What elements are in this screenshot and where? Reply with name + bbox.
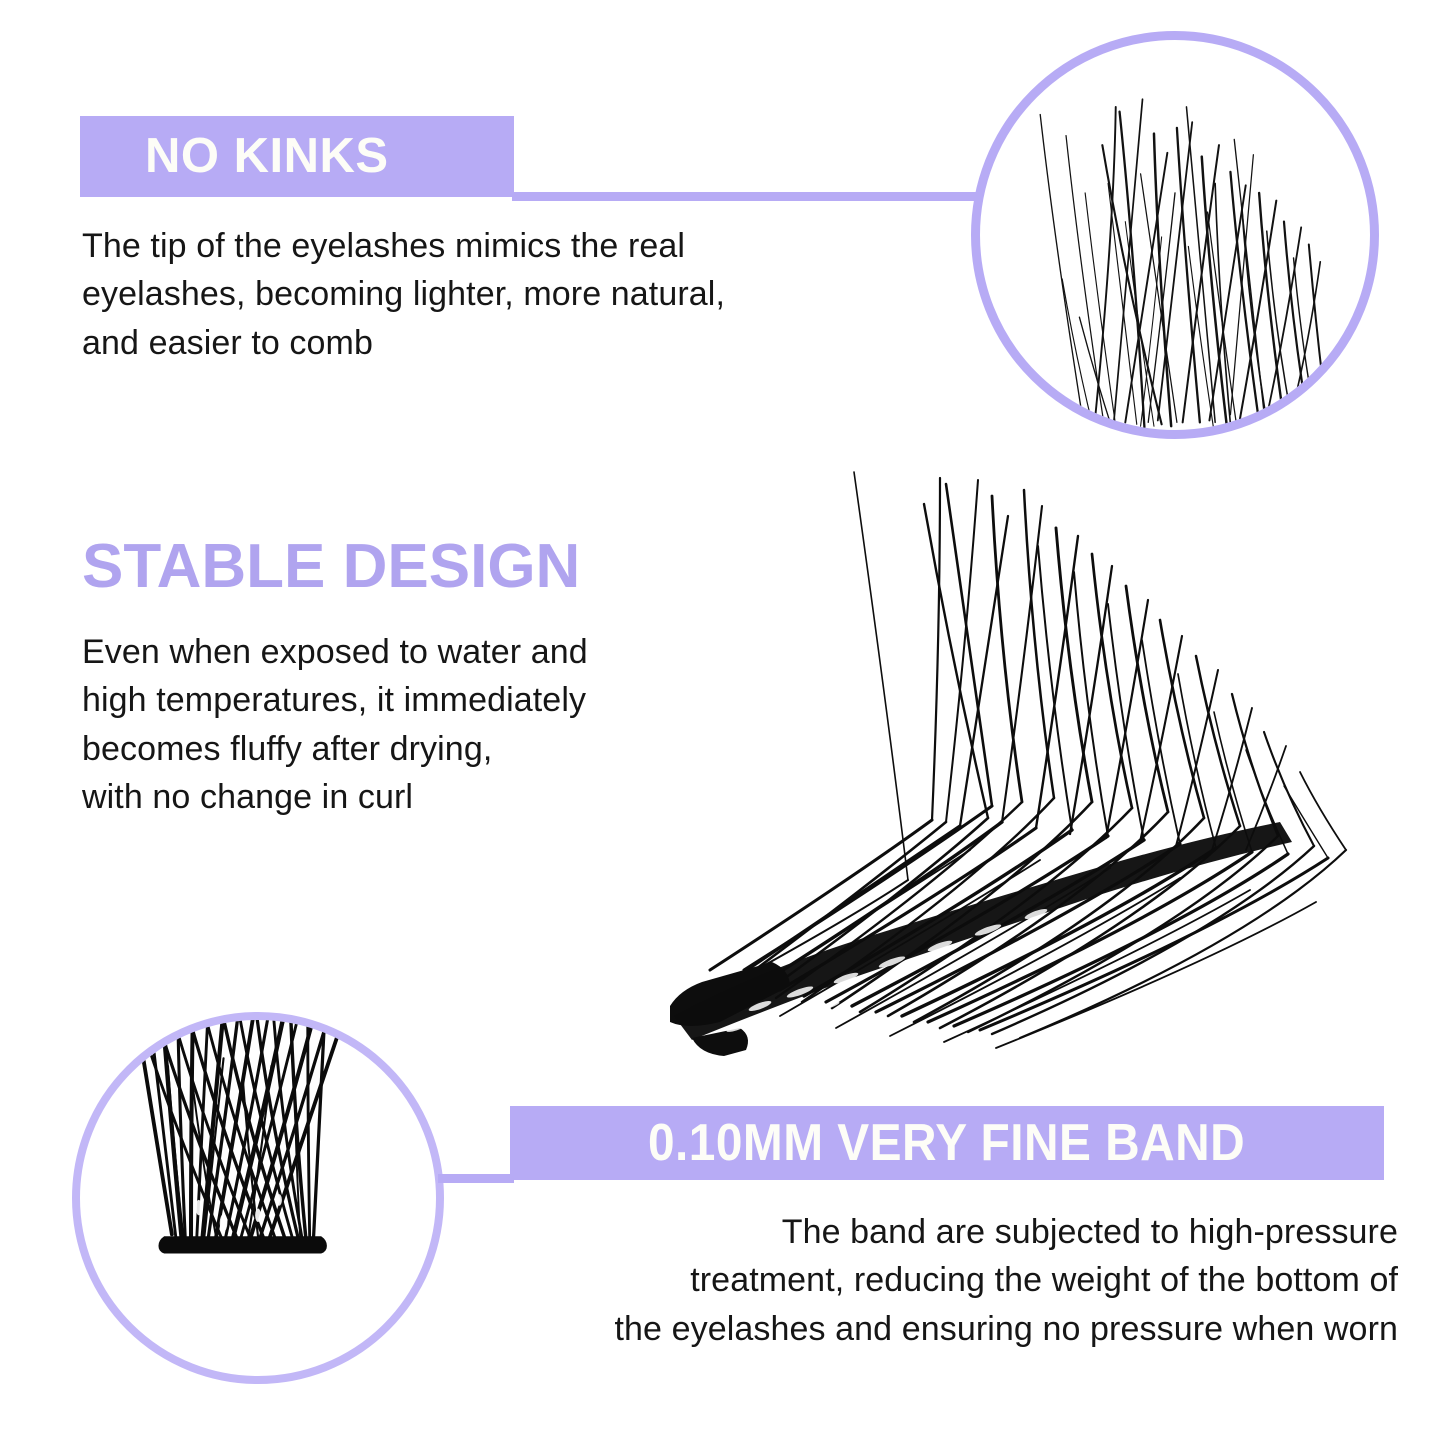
body-line: Even when exposed to water and: [82, 628, 588, 676]
callout-circle-fine-band: [72, 1012, 444, 1384]
body-line: high temperatures, it immediately: [82, 676, 588, 724]
callout-circle-no-kinks: [971, 31, 1379, 439]
feature-title-fine-band: 0.10MM VERY FINE BAND: [510, 1106, 1384, 1180]
lash-strip-illustration: [640, 450, 1370, 1070]
feature-title-no-kinks: NO KINKS: [80, 116, 514, 197]
connector-line-fine-band: [438, 1174, 514, 1183]
feature-title-stable-design: STABLE DESIGN: [82, 536, 580, 598]
feature-title-text: 0.10MM VERY FINE BAND: [648, 1117, 1245, 1169]
lash-tips-closeup-photo: [980, 40, 1370, 430]
body-line: The band are subjected to high-pressure: [614, 1208, 1398, 1256]
feature-title-text: STABLE DESIGN: [82, 532, 580, 601]
feature-title-text: NO KINKS: [145, 132, 389, 181]
product-infographic: NO KINKS The tip of the eyelashes mimics…: [0, 0, 1445, 1445]
body-line: becomes fluffy after drying,: [82, 725, 588, 773]
full-lash-strip-photo: [640, 450, 1370, 1070]
body-line: with no change in curl: [82, 773, 588, 821]
feature-body-fine-band: The band are subjected to high-pressure …: [614, 1208, 1398, 1353]
feature-body-stable-design: Even when exposed to water and high temp…: [82, 628, 588, 821]
feature-body-no-kinks: The tip of the eyelashes mimics the real…: [82, 222, 725, 367]
body-line: eyelashes, becoming lighter, more natura…: [82, 270, 725, 318]
body-line: and easier to comb: [82, 319, 725, 367]
body-line: The tip of the eyelashes mimics the real: [82, 222, 725, 270]
connector-line-no-kinks: [512, 192, 978, 201]
body-line: the eyelashes and ensuring no pressure w…: [614, 1305, 1398, 1353]
lash-band-base-closeup-photo: [80, 1020, 436, 1376]
body-line: treatment, reducing the weight of the bo…: [614, 1256, 1398, 1304]
